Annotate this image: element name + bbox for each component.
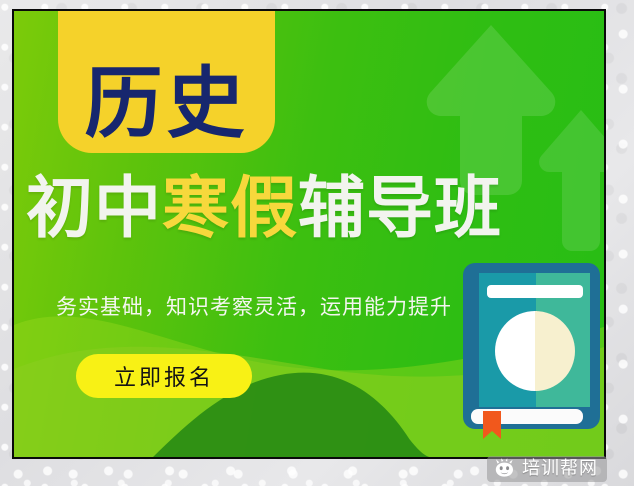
watermark-label: 培训帮网 (522, 460, 598, 478)
subject-badge: 历史 (58, 9, 275, 153)
headline-segment-grade: 初中 (26, 169, 162, 247)
enroll-now-button[interactable]: 立即报名 (76, 354, 252, 398)
page-title: 初中寒假辅导班 (26, 175, 596, 242)
subject-badge-label: 历史 (84, 65, 248, 143)
headline-segment-class: 辅导班 (298, 169, 502, 247)
sun-face-icon (494, 458, 515, 481)
headline-segment-season: 寒假 (162, 169, 298, 247)
subtitle: 务实基础，知识考察灵活，运用能力提升 (56, 291, 452, 321)
watermark: 培训帮网 (487, 456, 607, 482)
book-icon (457, 261, 600, 439)
course-promo-poster: 历史 初中寒假辅导班 务实基础，知识考察灵活，运用能力提升 立即报名 (12, 9, 606, 459)
